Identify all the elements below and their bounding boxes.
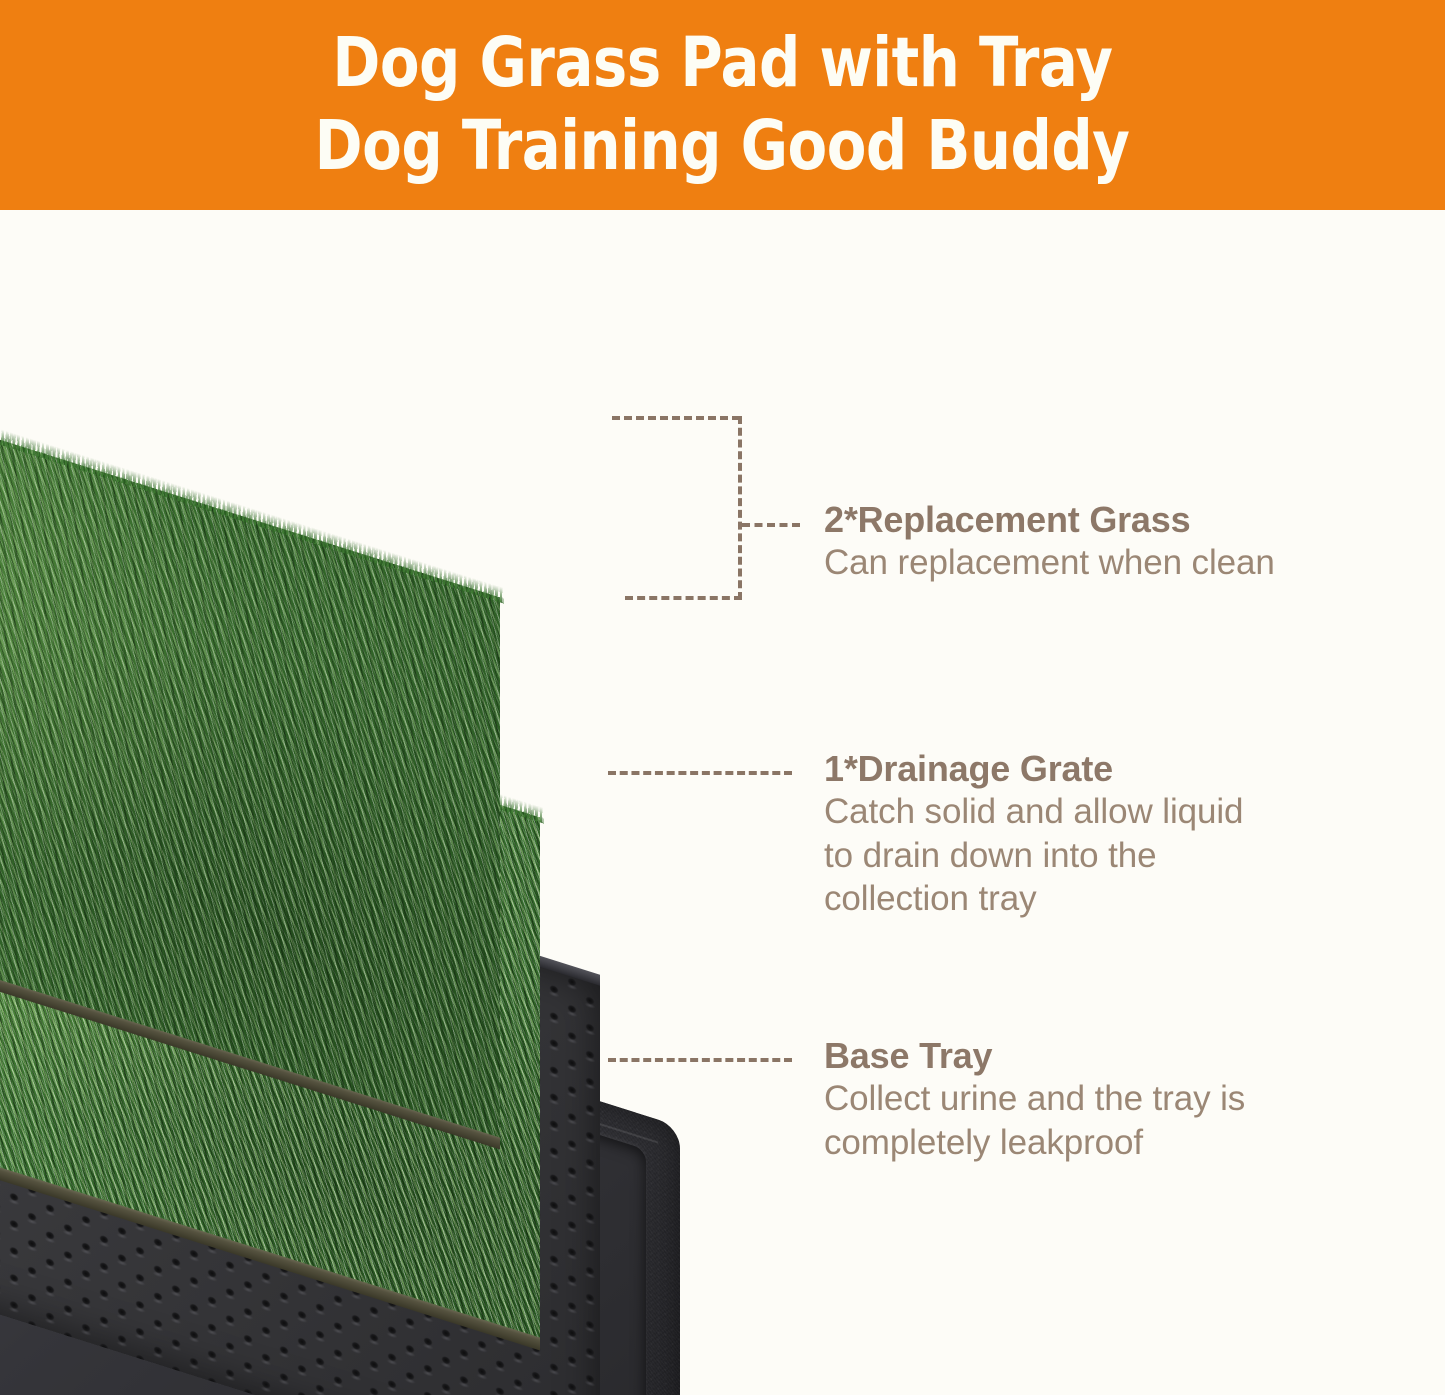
callout-base-tray-title: Base Tray <box>824 1035 1245 1077</box>
callout-base-tray-desc-line-1: Collect urine and the tray is <box>824 1077 1245 1120</box>
callout-drainage-grate-title: 1*Drainage Grate <box>824 748 1243 790</box>
callout-replacement-grass-desc: Can replacement when clean <box>824 541 1275 584</box>
callout-drainage-grate-desc-line-3: collection tray <box>824 877 1243 920</box>
header-title-line-1: Dog Grass Pad with Tray <box>332 29 1112 98</box>
callout-drainage-grate-desc-line-1: Catch solid and allow liquid <box>824 790 1243 833</box>
bracket-stub-icon <box>742 523 800 527</box>
header-title-line-2: Dog Training Good Buddy <box>315 112 1130 181</box>
callout-replacement-grass-title: 2*Replacement Grass <box>824 499 1275 541</box>
callout-base-tray-text: Base Tray Collect urine and the tray is … <box>824 1035 1245 1164</box>
callout-drainage-grate-text: 1*Drainage Grate Catch solid and allow l… <box>824 748 1243 921</box>
callout-base-tray-desc-line-2: completely leakproof <box>824 1121 1245 1164</box>
product-exploded-view <box>0 210 720 1395</box>
callout-drainage-grate-desc-line-2: to drain down into the <box>824 834 1243 877</box>
bracket-spine-icon <box>738 416 742 600</box>
grass-pad-upper <box>0 320 500 1137</box>
header-banner: Dog Grass Pad with Tray Dog Training Goo… <box>0 0 1445 210</box>
callout-replacement-grass-text: 2*Replacement Grass Can replacement when… <box>824 499 1275 585</box>
